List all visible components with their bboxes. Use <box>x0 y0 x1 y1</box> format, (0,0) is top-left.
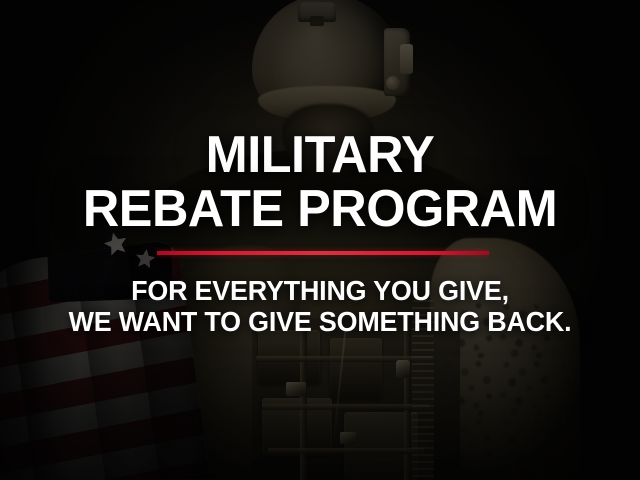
subheadline-line-2: WE WANT TO GIVE SOMETHING BACK. <box>13 308 627 336</box>
headline-line-2: REBATE PROGRAM <box>10 184 631 235</box>
text-overlay: MILITARY REBATE PROGRAM FOR EVERYTHING Y… <box>0 0 640 480</box>
red-divider-rule <box>157 251 489 255</box>
headline-line-1: MILITARY <box>10 130 631 181</box>
subheadline-line-1: FOR EVERYTHING YOU GIVE, <box>13 277 627 305</box>
military-rebate-program-banner: MILITARY REBATE PROGRAM FOR EVERYTHING Y… <box>0 0 640 480</box>
